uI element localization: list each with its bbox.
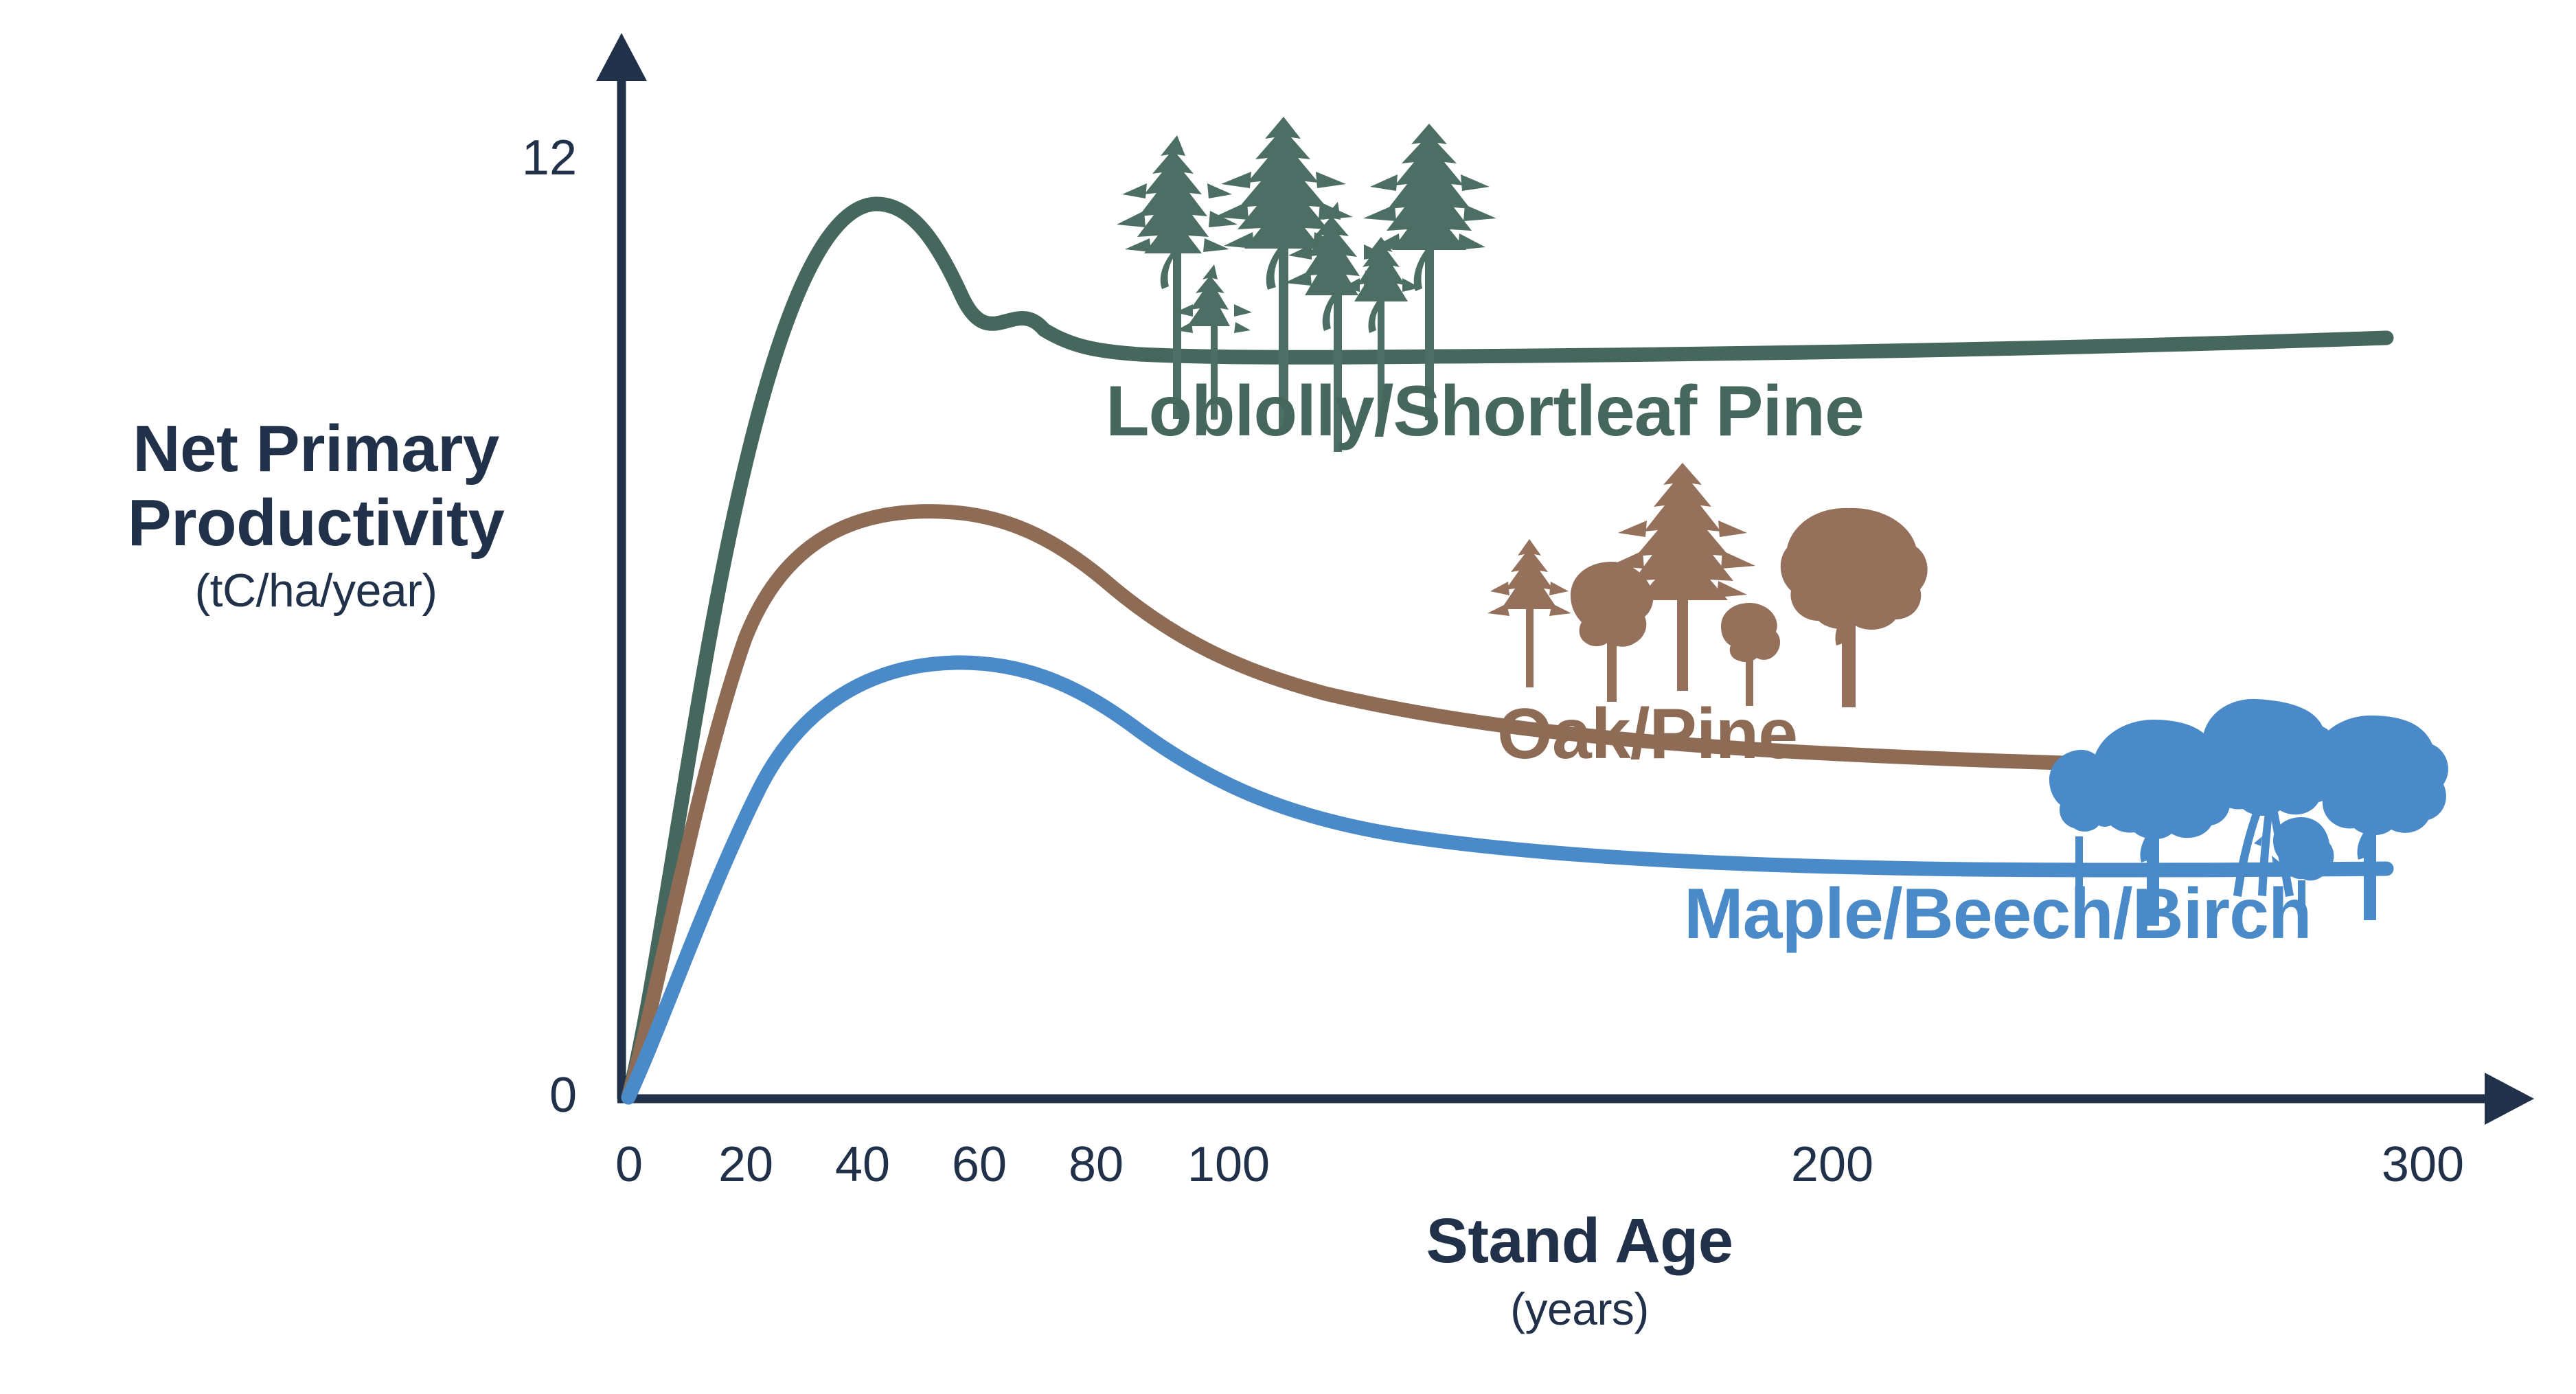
chart-canvas — [0, 0, 2576, 1394]
y-axis-label-line2: Productivity — [41, 486, 591, 560]
oak-pine-trees-icon — [1488, 463, 1928, 707]
x-axis-label: Stand Age (years) — [1133, 1205, 2026, 1335]
x-axis-label-main: Stand Age — [1133, 1205, 2026, 1277]
y-axis-label-units: (tC/ha/year) — [41, 564, 591, 617]
y-axis-label-main: Net Primary Productivity — [41, 412, 591, 560]
y-axis-label: Net Primary Productivity (tC/ha/year) — [41, 412, 591, 617]
x-tick-label-300: 300 — [2382, 1136, 2464, 1193]
x-tick-label-200: 200 — [1791, 1136, 1873, 1193]
x-axis-label-units: (years) — [1133, 1283, 2026, 1335]
x-tick-label-60: 60 — [952, 1136, 1007, 1193]
x-tick-label-100: 100 — [1187, 1136, 1270, 1193]
series-label-oak-pine: Oak/Pine — [1497, 694, 1797, 775]
series-label-maple-beech-birch: Maple/Beech/Birch — [1684, 873, 2312, 955]
x-tick-label-40: 40 — [835, 1136, 890, 1193]
axes — [596, 33, 2534, 1125]
arrow-right-icon — [2485, 1073, 2534, 1125]
series-label-loblolly-shortleaf-pine: Loblolly/Shortleaf Pine — [1106, 371, 1864, 453]
x-tick-label-20: 20 — [718, 1136, 773, 1193]
y-tick-label-0: 0 — [481, 1067, 577, 1123]
arrow-up-icon — [596, 33, 647, 81]
x-tick-label-80: 80 — [1069, 1136, 1124, 1193]
npp-stand-age-figure: Net Primary Productivity (tC/ha/year) St… — [0, 0, 2576, 1394]
x-tick-label-0: 0 — [615, 1136, 643, 1193]
y-axis-label-line1: Net Primary — [41, 412, 591, 486]
y-tick-label-12: 12 — [481, 130, 577, 186]
series-line-loblolly-shortleaf-pine — [628, 204, 2386, 1097]
